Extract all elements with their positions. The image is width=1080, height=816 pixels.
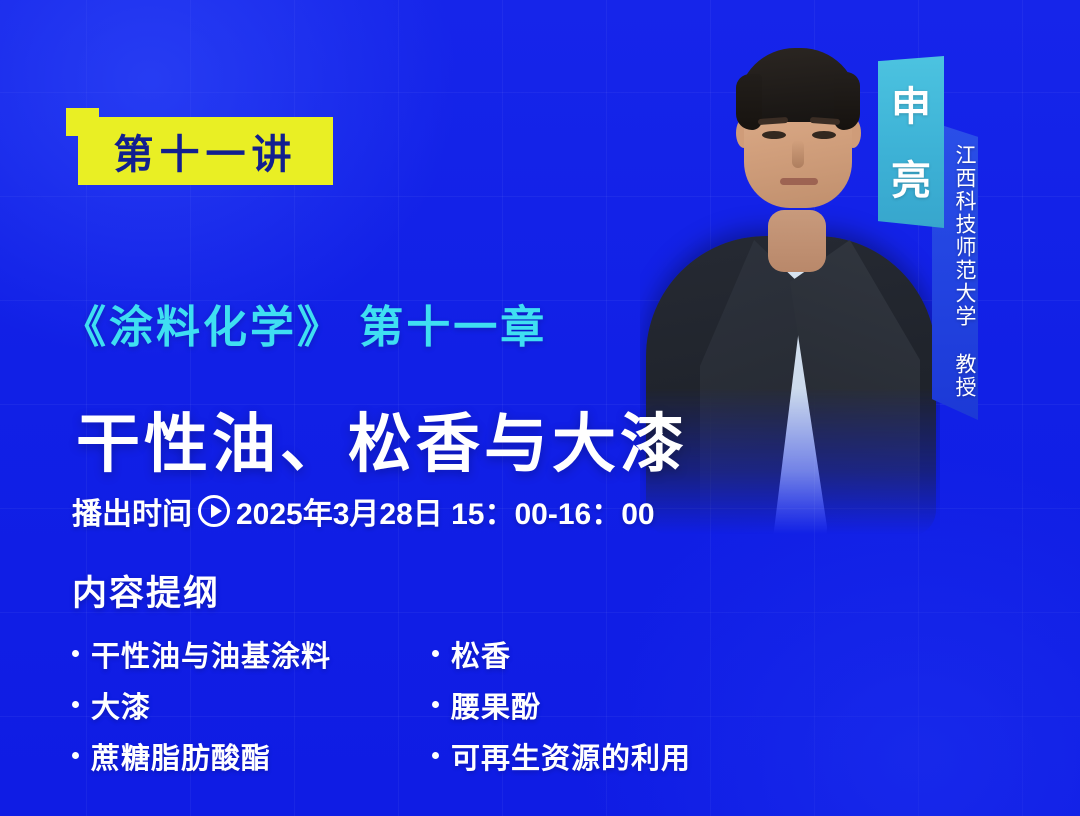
neck — [768, 210, 826, 272]
speaker-name-char-1: 申 — [891, 74, 931, 132]
mouth — [780, 178, 818, 185]
airtime-value: 2025年3月28日 15：00-16：00 — [236, 489, 655, 533]
bullet-icon — [432, 650, 439, 657]
list-item: 蔗糖脂肪酸酯 — [72, 735, 432, 777]
airtime-label: 播出时间 — [72, 489, 192, 533]
bullet-icon — [432, 752, 439, 759]
outline-item-label: 蔗糖脂肪酸酯 — [91, 735, 271, 777]
speaker-name-ribbon: 申 亮 — [878, 56, 944, 228]
list-item: 干性油与油基涂料 — [72, 633, 432, 675]
bullet-icon — [72, 650, 79, 657]
outline-item-label: 松香 — [451, 633, 511, 675]
list-item: 大漆 — [72, 684, 432, 726]
outline-item-label: 大漆 — [91, 684, 151, 726]
play-triangle — [211, 504, 222, 518]
bullet-icon — [432, 701, 439, 708]
outline-heading: 内容提纲 — [72, 565, 220, 616]
outline-item-label: 腰果酚 — [451, 684, 541, 726]
outline-list: 干性油与油基涂料 松香 大漆 腰果酚 蔗糖脂肪酸酯 可再生资源的利用 — [72, 628, 772, 781]
speaker-name-char-2: 亮 — [891, 148, 931, 206]
lecture-poster: 江西科技师范大学 教授 申 亮 第十一讲 《涂料化学》 第十一章 干性油、松香与… — [0, 0, 1080, 816]
outline-item-label: 可再生资源的利用 — [451, 735, 691, 777]
page-title: 干性油、松香与大漆 — [76, 393, 688, 485]
outline-item-label: 干性油与油基涂料 — [91, 633, 331, 675]
course-subtitle: 《涂料化学》 第十一章 — [62, 291, 547, 355]
speaker-name-vertical: 申 亮 — [878, 56, 944, 228]
bullet-icon — [72, 752, 79, 759]
airtime-row: 播出时间 2025年3月28日 15：00-16：00 — [72, 489, 655, 533]
eye-right — [812, 131, 836, 139]
list-item: 腰果酚 — [432, 684, 772, 726]
list-item: 可再生资源的利用 — [432, 735, 772, 777]
play-icon — [198, 495, 230, 527]
lecture-number-badge: 第十一讲 — [78, 117, 333, 185]
bullet-icon — [72, 701, 79, 708]
list-item: 松香 — [432, 633, 772, 675]
eye-left — [762, 131, 786, 139]
lecture-number-label: 第十一讲 — [114, 122, 298, 180]
nose — [792, 140, 804, 168]
